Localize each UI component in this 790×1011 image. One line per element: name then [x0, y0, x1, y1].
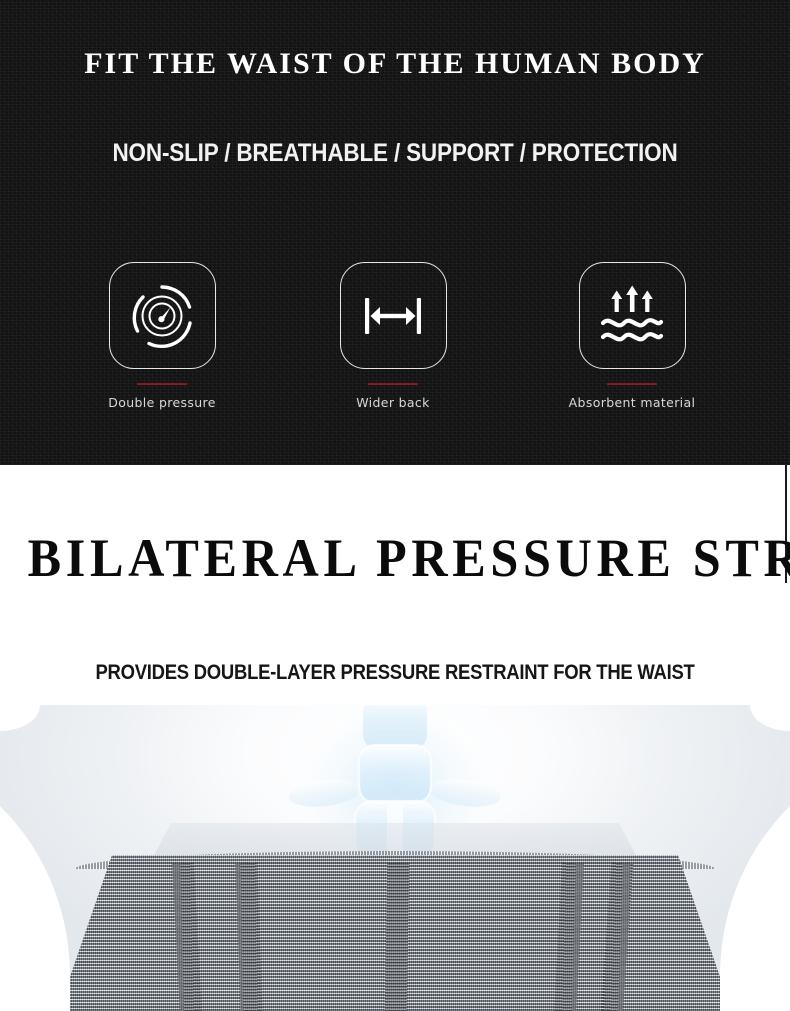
moisture-wicking-icon [599, 285, 665, 347]
belt-support-stay [385, 863, 410, 1011]
photo-corner-mask-right [750, 705, 790, 731]
product-marketing-page: FIT THE WAIST OF THE HUMAN BODY NON-SLIP… [0, 0, 790, 1011]
accent-underline [368, 383, 418, 385]
section-title: BILATERAL PRESSURE STRAP [28, 527, 763, 589]
feature-label: Absorbent material [542, 395, 722, 410]
accent-underline [137, 383, 187, 385]
feature-icon-row: Double pressure W [0, 262, 790, 432]
icon-frame [340, 262, 447, 369]
photo-corner-mask-left [0, 705, 40, 731]
feature-item-wider-back: Wider back [303, 262, 483, 410]
photo-vignette-left [0, 745, 70, 1011]
page-headline: FIT THE WAIST OF THE HUMAN BODY [0, 47, 790, 81]
accent-underline [607, 383, 657, 385]
page-subheadline: NON-SLIP / BREATHABLE / SUPPORT / PROTEC… [40, 139, 751, 168]
icon-frame [109, 262, 216, 369]
feature-label: Double pressure [72, 395, 252, 410]
product-photo [0, 705, 790, 1011]
width-arrow-icon [360, 283, 426, 349]
icon-frame [579, 262, 686, 369]
feature-label: Wider back [303, 395, 483, 410]
feature-item-double-pressure: Double pressure [72, 262, 252, 410]
pressure-gauge-icon [129, 283, 195, 349]
photo-vignette-right [720, 745, 790, 1011]
dark-feature-panel: FIT THE WAIST OF THE HUMAN BODY NON-SLIP… [0, 0, 790, 465]
section-subtitle: PROVIDES DOUBLE-LAYER PRESSURE RESTRAINT… [47, 661, 742, 685]
feature-item-absorbent-material: Absorbent material [542, 262, 722, 410]
